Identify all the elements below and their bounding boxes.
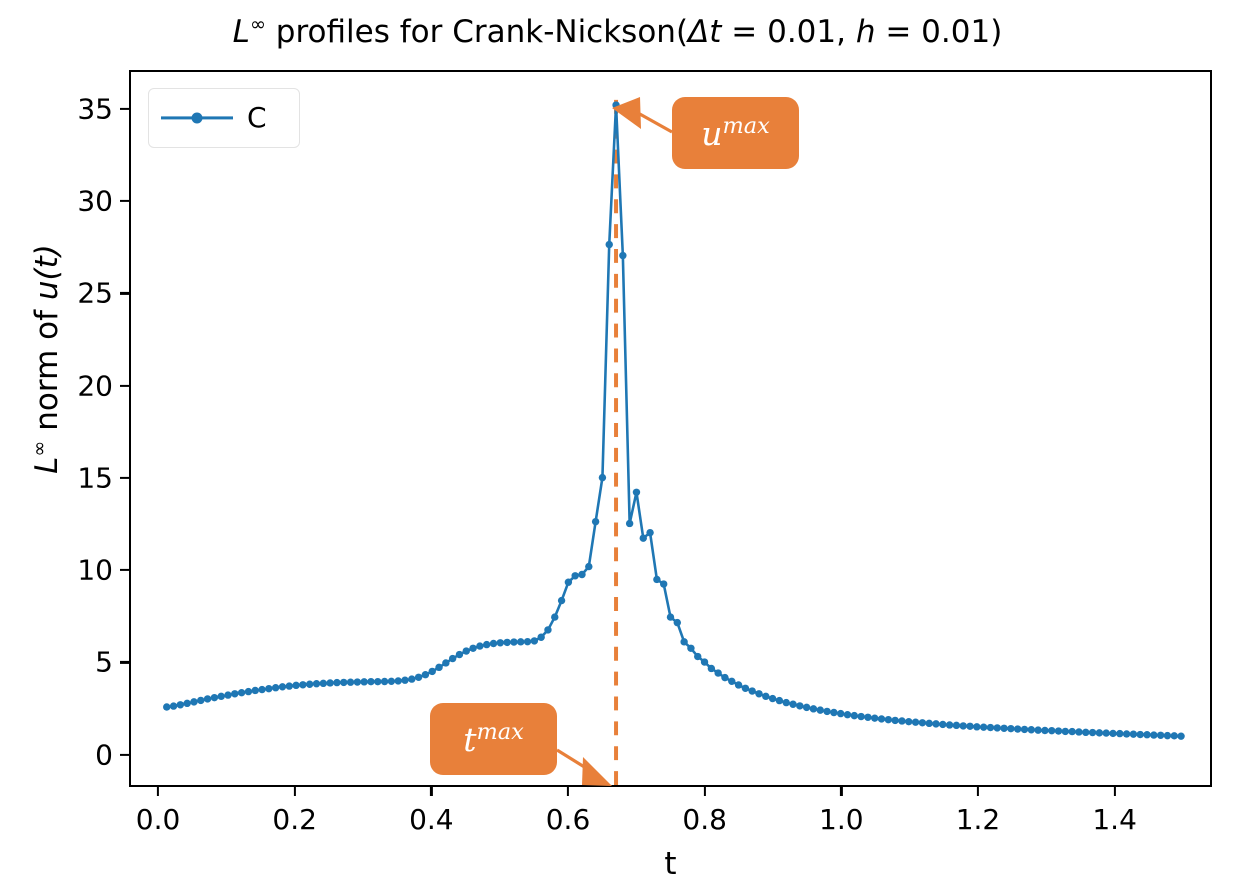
data-point (388, 678, 395, 685)
data-point (776, 697, 783, 704)
data-point (953, 722, 960, 729)
title-dt-symbol: Δt (688, 14, 721, 50)
data-point (401, 677, 408, 684)
data-point (1041, 727, 1048, 734)
y-tick-mark (120, 292, 129, 294)
y-tick-mark (120, 477, 129, 479)
data-point (742, 685, 749, 692)
data-point (483, 641, 490, 648)
annotation-t-max: tmax (430, 703, 557, 775)
x-tick-label: 0.6 (546, 803, 591, 836)
data-point (905, 718, 912, 725)
data-point (640, 534, 647, 541)
data-point (537, 634, 544, 641)
y-tick-mark (120, 754, 129, 756)
x-tick-label: 0.0 (136, 803, 181, 836)
data-point (347, 679, 354, 686)
data-point (960, 722, 967, 729)
data-point (245, 688, 252, 695)
data-point (891, 717, 898, 724)
data-point (1007, 725, 1014, 732)
data-point (599, 474, 606, 481)
data-point (1171, 732, 1178, 739)
legend[interactable]: C (148, 88, 300, 148)
data-point (163, 703, 170, 710)
data-point (823, 708, 830, 715)
x-tick-label: 0.4 (409, 803, 454, 836)
data-point (183, 700, 190, 707)
data-point (925, 720, 932, 727)
title-dt-value: = 0.01, (721, 14, 855, 50)
x-tick-label: 1.0 (819, 803, 864, 836)
data-series-canvas (131, 72, 1210, 785)
data-point (415, 674, 422, 681)
data-point (1109, 730, 1116, 737)
data-point (558, 597, 565, 604)
annotation-t-max-label: t (463, 720, 476, 759)
data-point (1021, 726, 1028, 733)
data-point (851, 712, 858, 719)
data-point (687, 645, 694, 652)
data-point (844, 711, 851, 718)
data-point (422, 671, 429, 678)
data-point (932, 720, 939, 727)
data-point (714, 669, 721, 676)
data-point (326, 679, 333, 686)
y-tick-label: 25 (77, 277, 113, 310)
data-point (320, 680, 327, 687)
data-point (197, 697, 204, 704)
data-point (817, 706, 824, 713)
data-point (204, 695, 211, 702)
data-point (1102, 729, 1109, 736)
data-point (762, 693, 769, 700)
data-point (857, 713, 864, 720)
x-tick-mark (840, 787, 842, 796)
data-point (354, 678, 361, 685)
data-point (796, 702, 803, 709)
data-point (292, 682, 299, 689)
data-point (694, 653, 701, 660)
data-point (633, 489, 640, 496)
data-point (456, 651, 463, 658)
data-point (973, 723, 980, 730)
data-point (258, 686, 265, 693)
plot-area (129, 70, 1212, 787)
x-tick-label: 1.4 (1092, 803, 1137, 836)
data-point (646, 529, 653, 536)
x-axis-label: t (129, 846, 1212, 882)
chart-figure: L∞ profiles for Crank-Nickson(Δt = 0.01,… (0, 0, 1235, 896)
data-point (735, 681, 742, 688)
data-point (360, 678, 367, 685)
data-point (367, 678, 374, 685)
data-point (803, 704, 810, 711)
data-point (1116, 730, 1123, 737)
x-tick-mark (430, 787, 432, 796)
x-tick-mark (567, 787, 569, 796)
annotation-u-max-superscript: max (722, 113, 769, 139)
data-point (919, 719, 926, 726)
data-point (1143, 731, 1150, 738)
data-point (1130, 730, 1137, 737)
title-h-value: = 0.01) (876, 14, 1003, 50)
data-point (381, 678, 388, 685)
data-point (517, 638, 524, 645)
data-point (1082, 729, 1089, 736)
data-point (510, 638, 517, 645)
data-point (592, 518, 599, 525)
data-point (1068, 728, 1075, 735)
x-tick-mark (977, 787, 979, 796)
y-tick-label: 20 (77, 369, 113, 402)
series-markers-c (163, 101, 1185, 740)
title-mid-text: profiles for Crank-Nickson( (266, 14, 688, 50)
data-point (830, 709, 837, 716)
data-point (299, 681, 306, 688)
data-point (653, 576, 660, 583)
ylabel-u-argument: (t) (29, 244, 65, 280)
x-tick-label: 1.2 (956, 803, 1001, 836)
data-point (864, 714, 871, 721)
data-point (463, 647, 470, 654)
data-point (708, 665, 715, 672)
data-point (612, 101, 619, 108)
data-point (1062, 728, 1069, 735)
data-point (1034, 726, 1041, 733)
legend-line-sample-c (161, 108, 233, 128)
data-point (1177, 732, 1184, 739)
data-point (1123, 730, 1130, 737)
x-tick-label: 0.8 (682, 803, 727, 836)
data-point (374, 678, 381, 685)
data-point (987, 724, 994, 731)
data-point (394, 677, 401, 684)
data-point (701, 658, 708, 665)
x-tick-mark (294, 787, 296, 796)
data-point (333, 679, 340, 686)
data-point (252, 687, 259, 694)
data-point (578, 571, 585, 578)
data-point (449, 655, 456, 662)
y-tick-label: 30 (77, 185, 113, 218)
data-point (1164, 732, 1171, 739)
data-point (476, 642, 483, 649)
data-point (306, 681, 313, 688)
ylabel-mid-text: norm of (29, 300, 65, 440)
annotation-u-max: umax (672, 97, 799, 169)
data-point (177, 701, 184, 708)
data-point (1055, 727, 1062, 734)
data-point (1000, 725, 1007, 732)
y-tick-mark (120, 108, 129, 110)
data-point (939, 721, 946, 728)
data-point (585, 563, 592, 570)
data-point (503, 639, 510, 646)
data-point (606, 241, 613, 248)
data-point (789, 701, 796, 708)
data-point (885, 716, 892, 723)
data-point (544, 626, 551, 633)
data-point (279, 683, 286, 690)
data-point (674, 619, 681, 626)
data-point (490, 640, 497, 647)
y-tick-label: 15 (77, 461, 113, 494)
data-point (265, 685, 272, 692)
data-point (1137, 731, 1144, 738)
data-point (340, 679, 347, 686)
data-point (1075, 728, 1082, 735)
data-point (728, 678, 735, 685)
data-point (783, 699, 790, 706)
data-point (551, 613, 558, 620)
data-point (748, 687, 755, 694)
data-point (469, 645, 476, 652)
data-point (565, 579, 572, 586)
data-point (898, 717, 905, 724)
data-point (571, 572, 578, 579)
ylabel-norm-superscript: ∞ (28, 440, 51, 456)
data-point (837, 710, 844, 717)
data-point (224, 691, 231, 698)
data-point (966, 723, 973, 730)
data-point (211, 694, 218, 701)
title-norm-superscript: ∞ (250, 13, 266, 36)
data-point (1014, 725, 1021, 732)
data-point (238, 689, 245, 696)
data-point (1150, 731, 1157, 738)
legend-marker-dot (192, 113, 203, 124)
data-point (442, 659, 449, 666)
data-point (755, 690, 762, 697)
data-point (980, 723, 987, 730)
data-point (190, 698, 197, 705)
data-point (313, 680, 320, 687)
data-point (531, 637, 538, 644)
x-tick-mark (704, 787, 706, 796)
chart-title: L∞ profiles for Crank-Nickson(Δt = 0.01,… (0, 14, 1235, 50)
data-point (408, 675, 415, 682)
y-tick-label: 10 (77, 554, 113, 587)
data-point (429, 668, 436, 675)
x-tick-mark (157, 787, 159, 796)
data-point (231, 690, 238, 697)
data-point (667, 613, 674, 620)
legend-label-c: C (247, 104, 267, 132)
data-point (1089, 729, 1096, 736)
title-norm-symbol: L (233, 14, 250, 50)
data-point (680, 638, 687, 645)
data-point (1048, 727, 1055, 734)
ylabel-norm-symbol: L (29, 456, 65, 473)
data-point (1028, 726, 1035, 733)
data-point (660, 580, 667, 587)
annotation-u-max-label: u (701, 114, 722, 153)
data-point (878, 715, 885, 722)
x-tick-mark (1114, 787, 1116, 796)
data-point (871, 714, 878, 721)
data-point (626, 520, 633, 527)
data-point (524, 638, 531, 645)
data-point (994, 724, 1001, 731)
data-point (810, 705, 817, 712)
y-tick-label: 0 (95, 738, 113, 771)
data-point (170, 702, 177, 709)
ylabel-u-symbol: u (29, 280, 65, 300)
data-point (619, 252, 626, 259)
data-point (721, 674, 728, 681)
y-tick-mark (120, 200, 129, 202)
data-point (946, 721, 953, 728)
title-h-symbol: h (856, 14, 876, 50)
data-point (497, 639, 504, 646)
y-tick-label: 5 (95, 646, 113, 679)
series-line-c (167, 105, 1181, 736)
data-point (912, 719, 919, 726)
y-tick-mark (120, 661, 129, 663)
annotation-t-max-superscript: max (476, 719, 523, 745)
data-point (1096, 729, 1103, 736)
y-tick-mark (120, 384, 129, 386)
y-tick-label: 35 (77, 92, 113, 125)
data-point (769, 695, 776, 702)
data-point (272, 684, 279, 691)
data-point (1157, 732, 1164, 739)
data-point (435, 664, 442, 671)
x-tick-label: 0.2 (272, 803, 317, 836)
data-point (217, 693, 224, 700)
data-point (286, 682, 293, 689)
y-tick-mark (120, 569, 129, 571)
